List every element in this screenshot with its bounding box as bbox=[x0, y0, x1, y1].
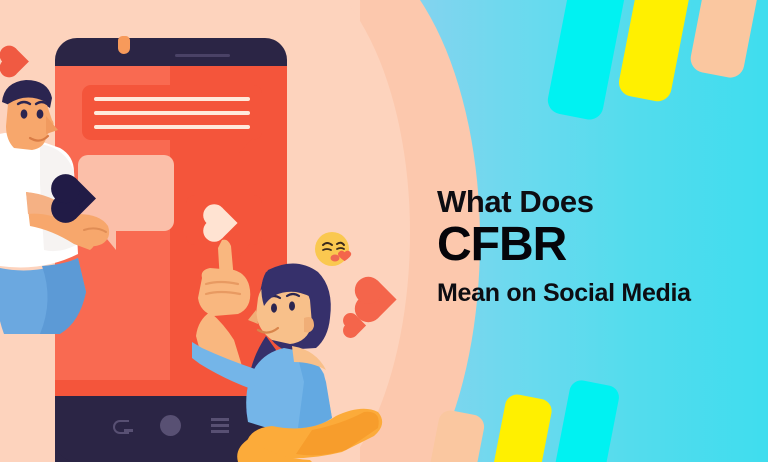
headline-line-1: What Does bbox=[437, 186, 757, 219]
headline-block: What Does CFBR Mean on Social Media bbox=[437, 186, 757, 307]
phone-speaker-slit bbox=[175, 54, 230, 57]
poster-canvas: What Does CFBR Mean on Social Media bbox=[0, 0, 768, 462]
message-card-tail bbox=[238, 138, 253, 154]
kissing-face-emoji bbox=[314, 231, 358, 271]
home-circle-icon[interactable] bbox=[160, 415, 181, 436]
back-arrow-icon[interactable] bbox=[113, 420, 129, 434]
back-arrow-tail bbox=[124, 429, 133, 432]
headline-line-3: Mean on Social Media bbox=[437, 280, 757, 308]
headline-acronym: CFBR bbox=[437, 221, 757, 269]
